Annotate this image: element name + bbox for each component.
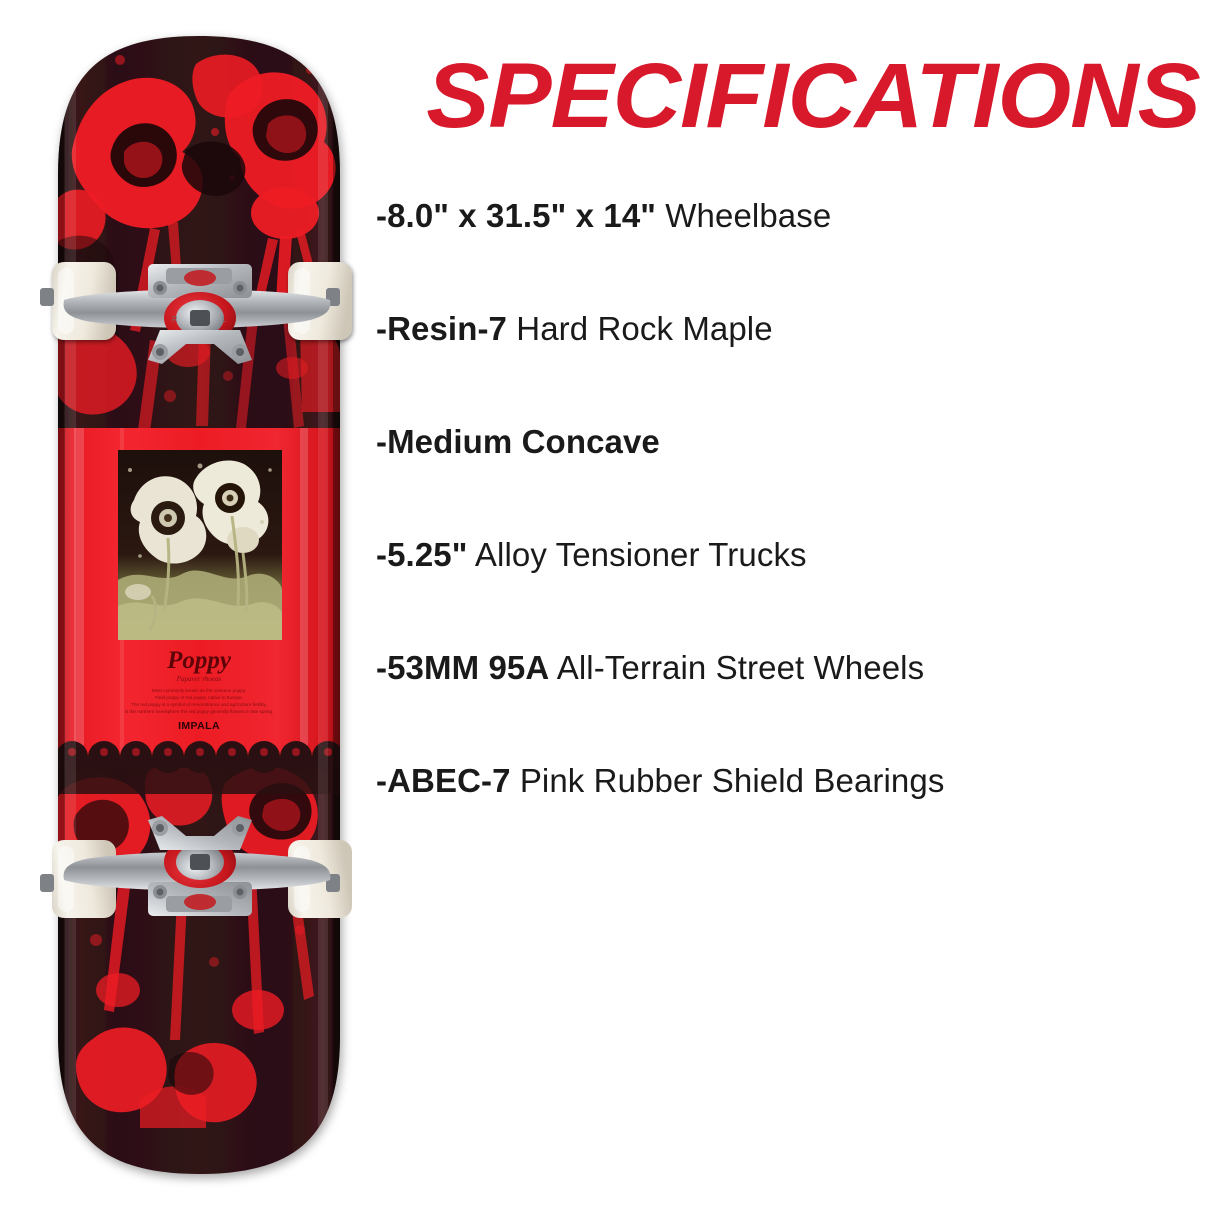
page-title: SPECIFICATIONS (406, 50, 1214, 142)
spec-value: 8.0" x 31.5" x 14" (387, 197, 656, 234)
spec-item-trucks: -5.25" Alloy Tensioner Trucks (376, 535, 1214, 648)
deck-label-body-line: The red poppy is a symbol of remembrance… (131, 702, 267, 707)
spec-description: Alloy Tensioner Trucks (467, 536, 806, 573)
deck-center-label-panel: Poppy Papaver rhoeas Most commonly known… (56, 428, 344, 773)
spec-description: All-Terrain Street Wheels (549, 649, 924, 686)
product-specification-page: Poppy Papaver rhoeas Most commonly known… (0, 0, 1214, 1214)
spec-value: ABEC-7 (387, 762, 510, 799)
spec-item-bearings: -ABEC-7 Pink Rubber Shield Bearings (376, 761, 1214, 874)
spec-value: 5.25" (387, 536, 467, 573)
deck-label-body-line: Most commonly known as the common poppy, (152, 688, 246, 693)
spec-item-concave: -Medium Concave (376, 422, 1214, 535)
spec-bullet: - (376, 649, 387, 686)
spec-bullet: - (376, 423, 387, 460)
spec-item-wheels: -53MM 95A All-Terrain Street Wheels (376, 648, 1214, 761)
svg-text:L: L (222, 315, 227, 324)
specifications-list: -8.0" x 31.5" x 14" Wheelbase -Resin-7 H… (376, 196, 1214, 874)
spec-bullet: - (376, 310, 387, 347)
skateboard-graphic: Poppy Papaver rhoeas Most commonly known… (0, 0, 380, 1214)
spec-value: Resin-7 (387, 310, 507, 347)
specifications-panel: SPECIFICATIONS -8.0" x 31.5" x 14" Wheel… (372, 0, 1214, 1214)
spec-description: Pink Rubber Shield Bearings (511, 762, 945, 799)
spec-value: Medium Concave (387, 423, 660, 460)
spec-value: 53MM 95A (387, 649, 549, 686)
deck-label-subtitle: Papaver rhoeas (176, 675, 222, 683)
deck-label-body-line: Field poppy or red poppy, native to Euro… (155, 695, 243, 700)
svg-text:R: R (172, 315, 178, 324)
deck-label-photo (118, 450, 282, 640)
deck-label-script-title: Poppy (166, 647, 232, 674)
skateboard-product-image: Poppy Papaver rhoeas Most commonly known… (0, 0, 380, 1214)
spec-description: Hard Rock Maple (507, 310, 773, 347)
spec-bullet: - (376, 197, 387, 234)
spec-description: Wheelbase (656, 197, 831, 234)
spec-item-dimensions: -8.0" x 31.5" x 14" Wheelbase (376, 196, 1214, 309)
spec-bullet: - (376, 536, 387, 573)
spec-bullet: - (376, 762, 387, 799)
deck-label-brand: IMPALA (178, 720, 220, 732)
spec-item-deck-material: -Resin-7 Hard Rock Maple (376, 309, 1214, 422)
deck-label-body-line: in the northern hemisphere the red poppy… (125, 709, 274, 714)
